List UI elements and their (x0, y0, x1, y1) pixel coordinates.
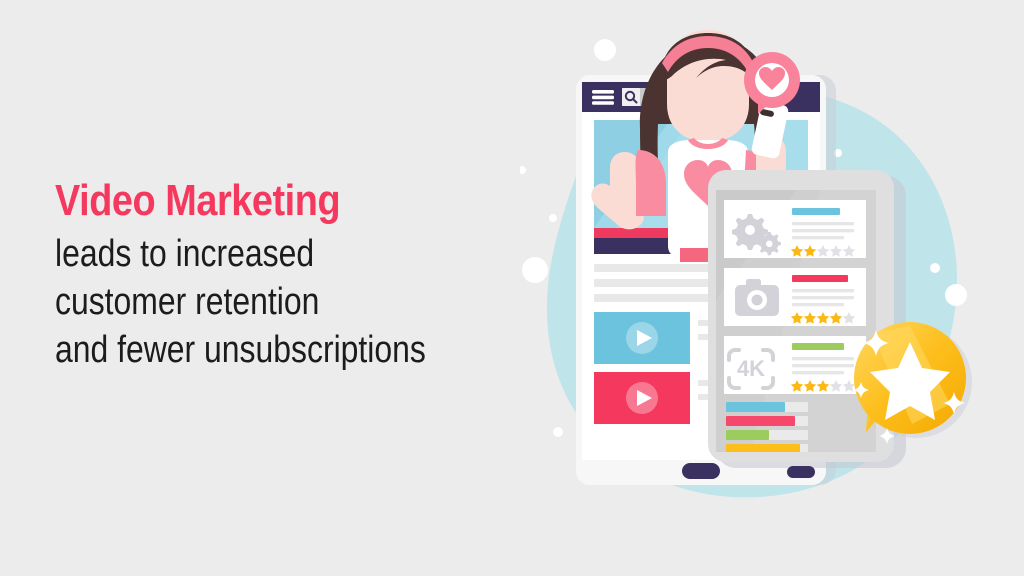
tablet-home-button[interactable] (682, 463, 720, 479)
illustration: 4K (520, 0, 1024, 576)
card-camera[interactable] (724, 268, 866, 326)
phone-home-button[interactable] (787, 466, 815, 478)
page-title: Video Marketing (55, 176, 459, 226)
4k-icon-label: 4K (737, 356, 765, 381)
subtitle-line-3: and fewer unsubscriptions (55, 326, 450, 374)
copy-block: Video Marketing leads to increased custo… (55, 176, 525, 374)
search-icon[interactable] (622, 88, 640, 106)
subtitle-line-2: customer retention (55, 278, 450, 326)
meter-green (726, 430, 808, 440)
hamburger-icon[interactable] (592, 90, 614, 105)
meter-pink (726, 416, 808, 426)
card-settings[interactable] (724, 200, 866, 258)
card-4k[interactable]: 4K (724, 336, 866, 394)
phone-device[interactable]: 4K (708, 170, 906, 478)
subtitle-line-1: leads to increased (55, 230, 450, 278)
banner-root: Video Marketing leads to increased custo… (0, 0, 1024, 576)
award-badge[interactable] (853, 322, 972, 444)
meter-blue (726, 402, 808, 412)
